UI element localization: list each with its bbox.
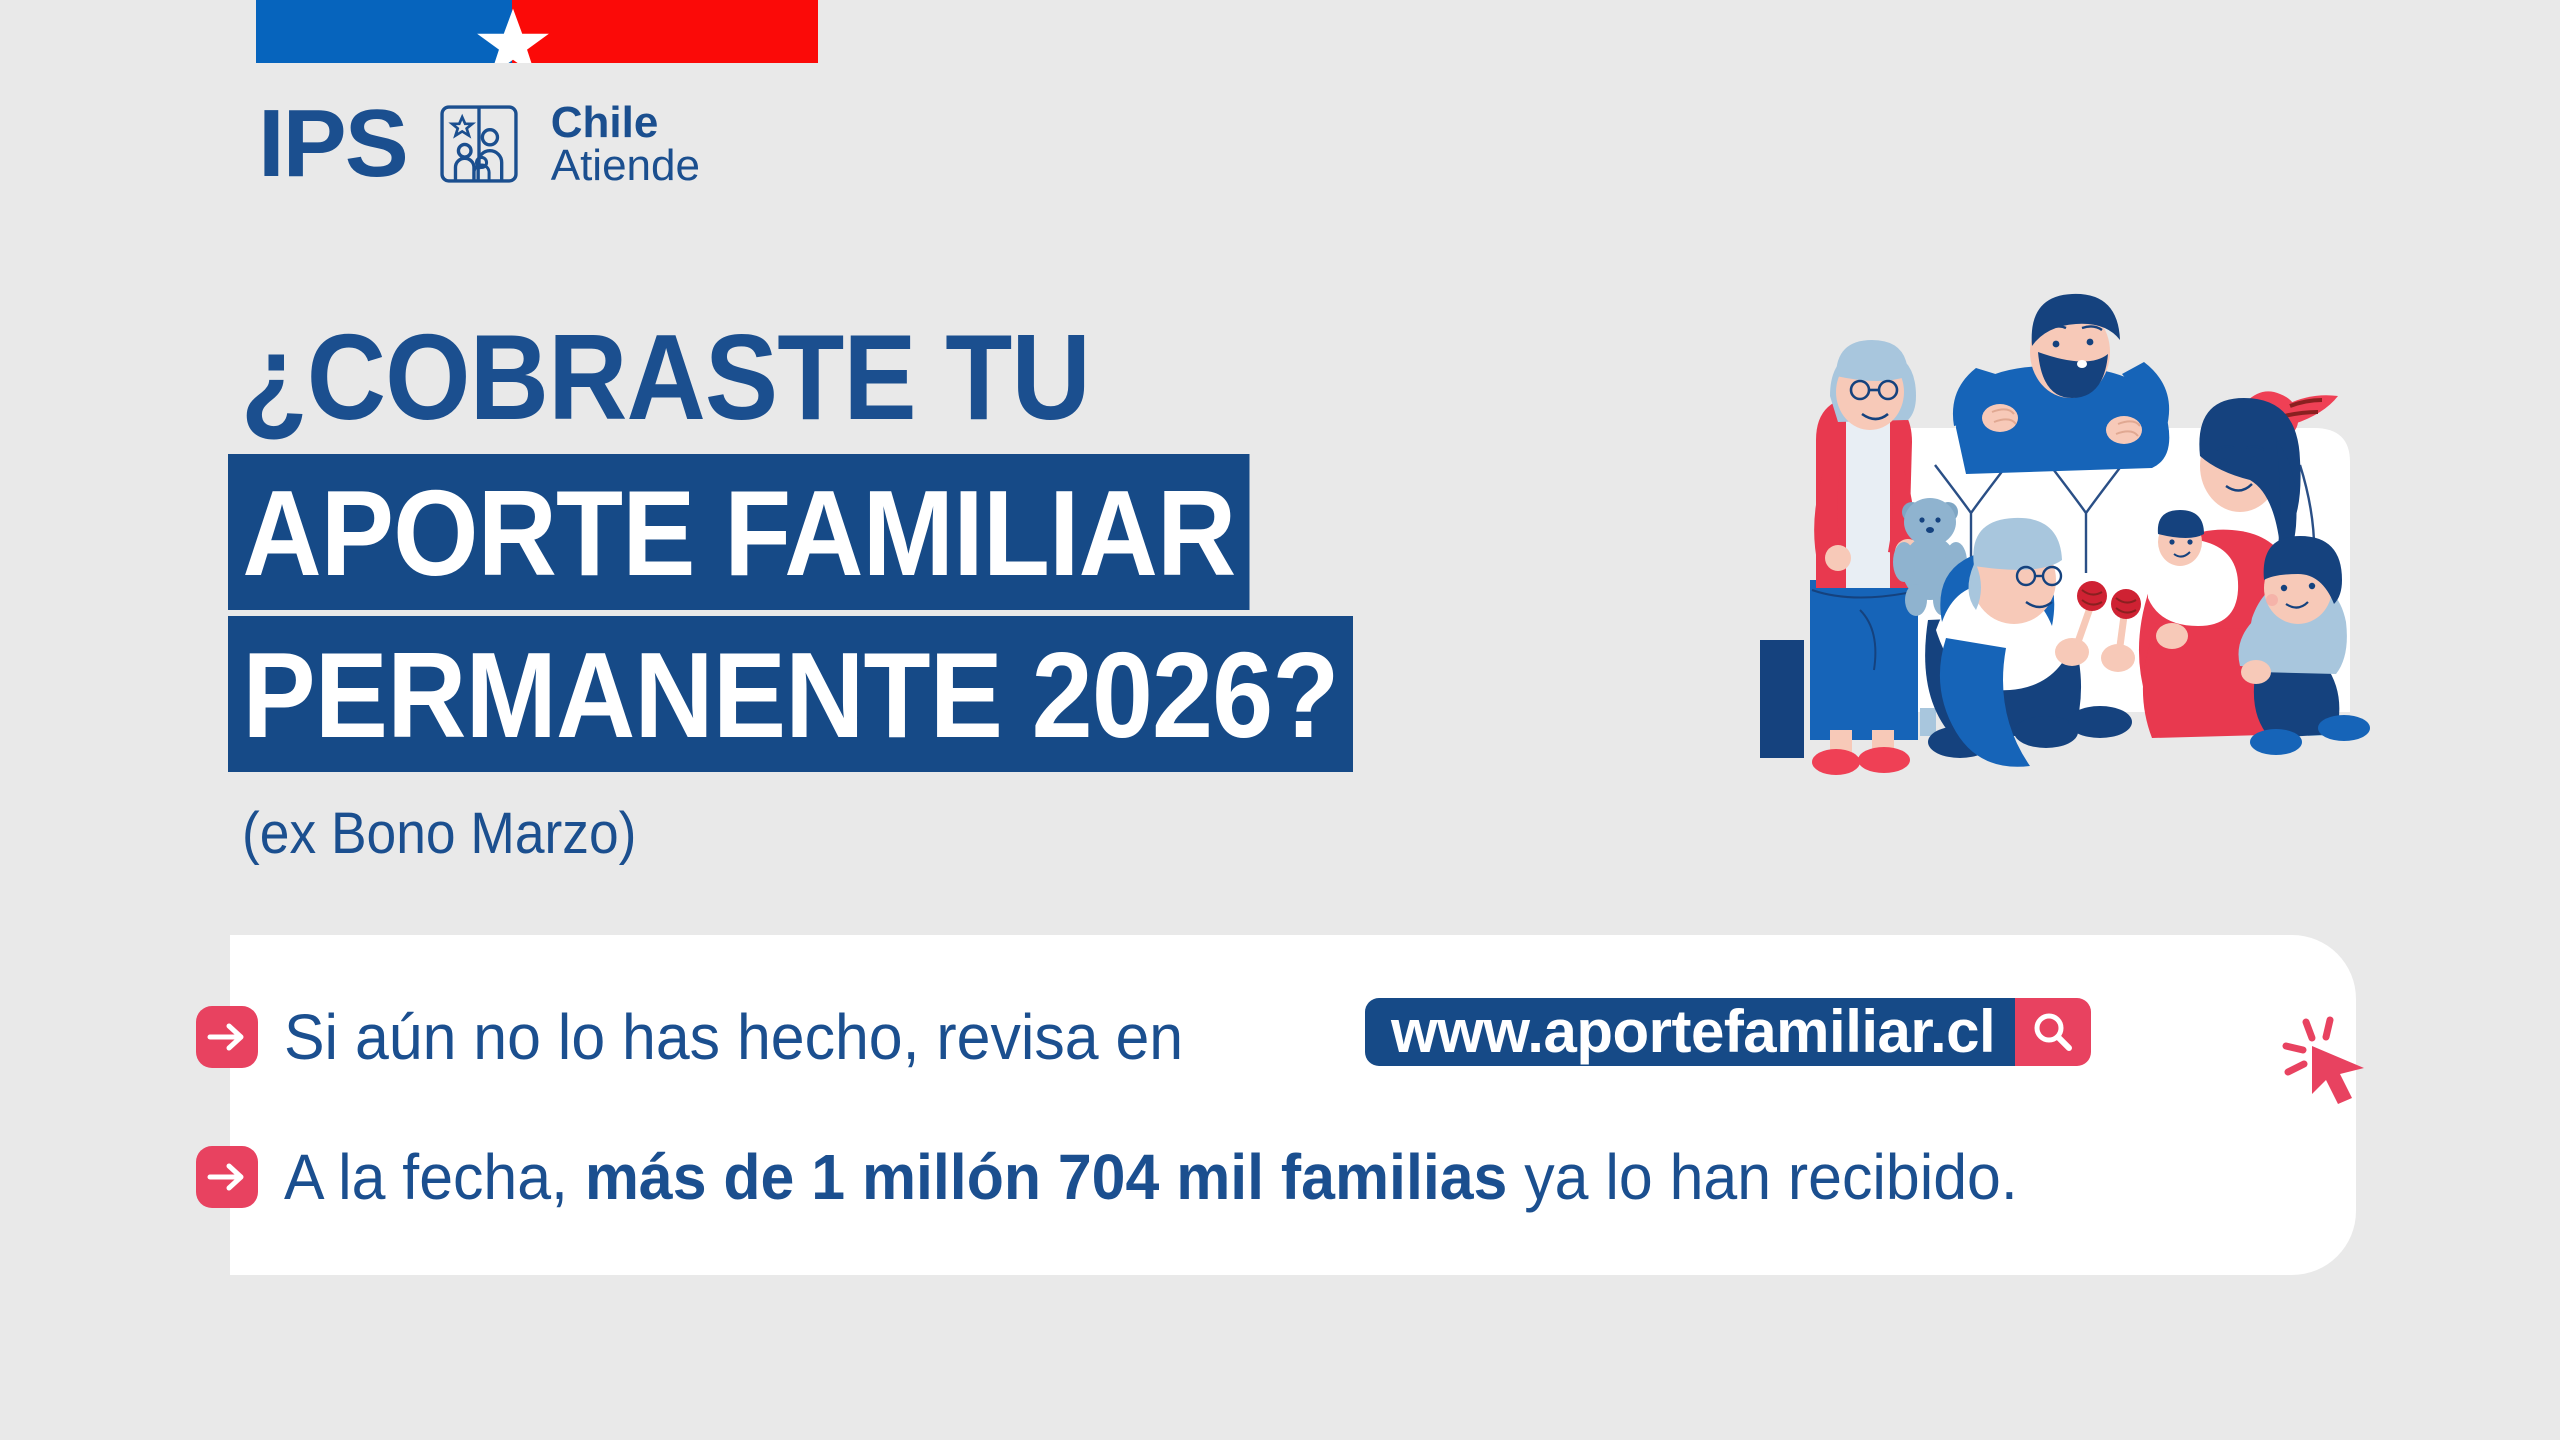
headline-line-2: APORTE FAMILIAR bbox=[228, 454, 1250, 610]
info-row-1: Si aún no lo has hecho, revisa en bbox=[196, 1000, 1230, 1074]
flag-star-icon bbox=[474, 4, 552, 63]
click-cursor-icon bbox=[2272, 1008, 2376, 1112]
info-row-2: A la fecha, más de 1 millón 704 mil fami… bbox=[196, 1140, 2109, 1214]
ips-chileatiende-logo: IPS Chile Atiende bbox=[258, 96, 700, 192]
flag-red-field bbox=[512, 0, 818, 63]
magnifier-icon[interactable] bbox=[2015, 998, 2091, 1066]
headline-line-1: ¿COBRASTE TU bbox=[228, 300, 2327, 448]
chileatiende-line1: Chile bbox=[551, 101, 700, 144]
info-row-2-prefix: A la fecha, bbox=[284, 1141, 585, 1213]
url-pill[interactable]: www.aportefamiliar.cl bbox=[1365, 998, 2091, 1066]
info-card bbox=[230, 935, 2356, 1275]
headline-line-3: PERMANENTE 2026? bbox=[228, 616, 1353, 772]
arrow-right-icon bbox=[196, 1146, 258, 1208]
chile-flag-bar bbox=[256, 0, 818, 63]
info-row-1-text: Si aún no lo has hecho, revisa en bbox=[284, 1000, 1183, 1074]
headline-block: ¿COBRASTE TU APORTE FAMILIAR PERMANENTE … bbox=[228, 300, 2560, 772]
url-text[interactable]: www.aportefamiliar.cl bbox=[1365, 998, 2015, 1066]
chileatiende-line2: Atiende bbox=[551, 144, 700, 187]
chileatiende-family-icon bbox=[437, 102, 521, 186]
headline-subtitle: (ex Bono Marzo) bbox=[242, 800, 636, 867]
chileatiende-wordmark: Chile Atiende bbox=[551, 101, 700, 187]
ips-wordmark: IPS bbox=[258, 96, 407, 192]
info-row-2-suffix: ya lo han recibido. bbox=[1507, 1141, 2017, 1213]
poster-canvas: IPS Chile Atiende bbox=[0, 0, 2560, 1440]
arrow-right-icon bbox=[196, 1006, 258, 1068]
info-row-2-text: A la fecha, más de 1 millón 704 mil fami… bbox=[284, 1140, 2018, 1214]
info-row-2-highlight: más de 1 millón 704 mil familias bbox=[585, 1141, 1508, 1213]
